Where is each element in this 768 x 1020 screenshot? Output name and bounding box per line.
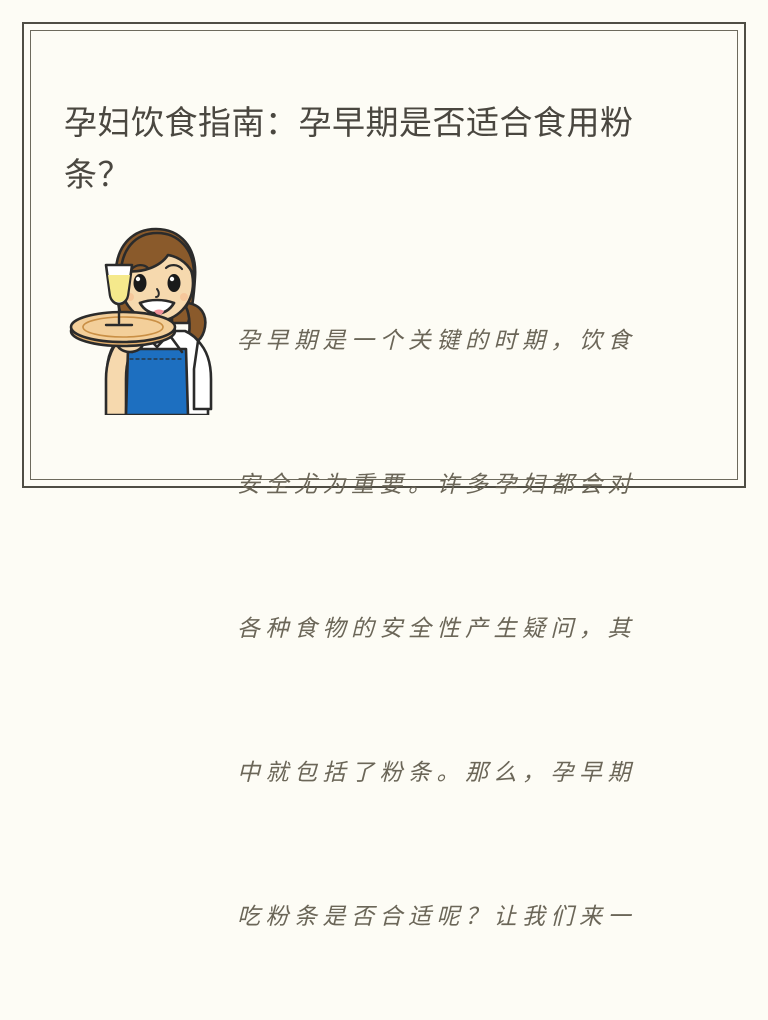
article-card: 孕妇饮食指南：孕早期是否适合食用粉条？ [22, 22, 746, 488]
article-body: 孕早期是一个关键的时期，饮食 安全尤为重要。许多孕妇都会对 各种食物的安全性产生… [237, 221, 661, 1020]
body-line: 安全尤为重要。许多孕妇都会对 [237, 461, 661, 509]
article-card-inner-border: 孕妇饮食指南：孕早期是否适合食用粉条？ [30, 30, 738, 480]
body-line: 各种食物的安全性产生疑问，其 [237, 605, 661, 653]
page-title: 孕妇饮食指南：孕早期是否适合食用粉条？ [64, 97, 684, 201]
body-line: 中就包括了粉条。那么，孕早期 [237, 749, 661, 797]
body-line: 吃粉条是否合适呢？让我们来一 [237, 893, 661, 941]
waitress-with-tray-illustration [68, 219, 224, 415]
body-line: 孕早期是一个关键的时期，饮食 [237, 317, 661, 365]
article-content-row: 孕早期是一个关键的时期，饮食 安全尤为重要。许多孕妇都会对 各种食物的安全性产生… [31, 209, 737, 439]
